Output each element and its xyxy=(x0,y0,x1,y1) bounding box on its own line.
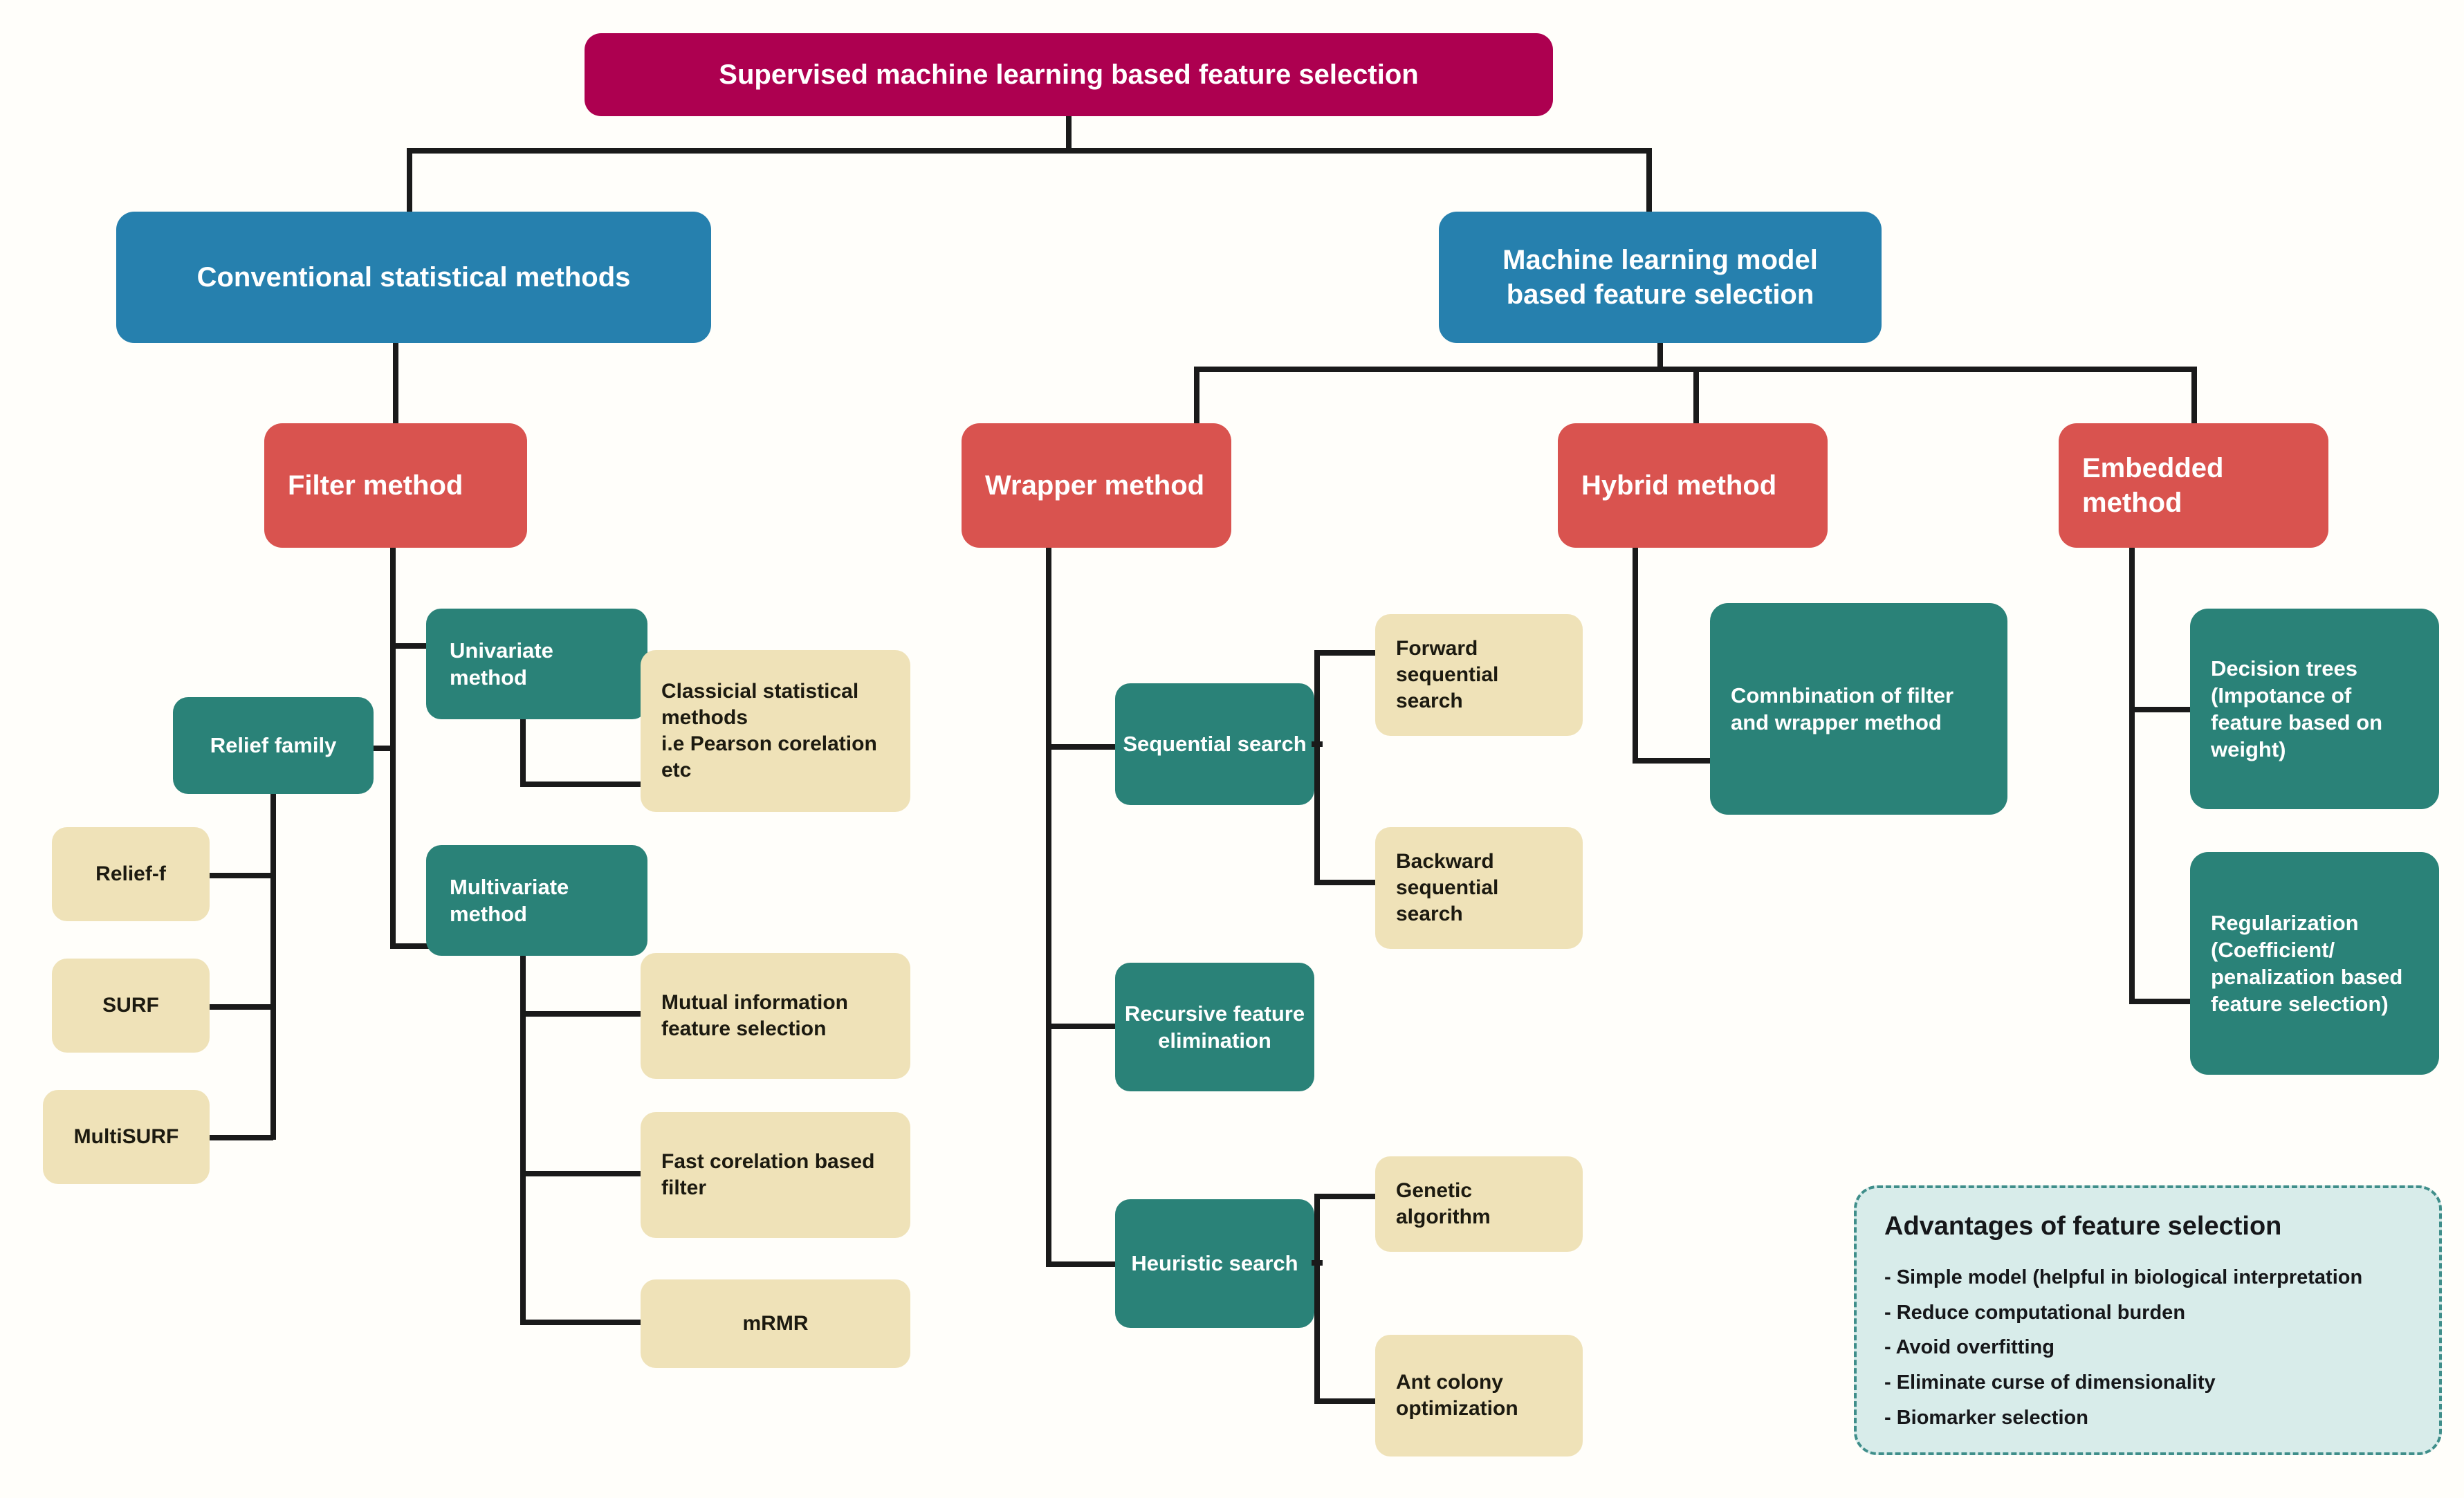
connector-sequential-to-forward xyxy=(1314,650,1381,656)
connector-to-embedded xyxy=(2191,367,2197,427)
node-univariate-label: Univariate method xyxy=(450,637,624,691)
legend-item: - Reduce computational burden xyxy=(1884,1300,2411,1326)
connector-heuristic-stem xyxy=(1312,1260,1323,1266)
connector-multivariate-to-mutual-info xyxy=(520,1011,646,1017)
node-ant-colony-optimization[interactable]: Ant colony optimization xyxy=(1375,1335,1583,1457)
node-conventional-statistical-methods[interactable]: Conventional statistical methods xyxy=(116,212,711,343)
node-wrapper-method-label: Wrapper method xyxy=(985,468,1208,503)
connector-relief-to-multisurf xyxy=(210,1135,273,1140)
node-relief-family[interactable]: Relief family xyxy=(173,697,374,794)
node-surf[interactable]: SURF xyxy=(52,959,210,1053)
legend-title: Advantages of feature selection xyxy=(1884,1212,2411,1241)
node-recursive-feature-elimination[interactable]: Recursive feature elimination xyxy=(1115,963,1314,1091)
node-fast-correlation-based-filter[interactable]: Fast corelation based filter xyxy=(641,1112,910,1238)
node-conventional-label: Conventional statistical methods xyxy=(140,260,688,295)
connector-heuristic-to-ant-colony xyxy=(1314,1398,1381,1404)
node-genetic-algorithm-label: Genetic algorithm xyxy=(1396,1178,1562,1230)
connector-multivariate-to-fast-correlation xyxy=(520,1171,646,1176)
legend-item: - Simple model (helpful in biological in… xyxy=(1884,1265,2411,1291)
connector-wrapper-to-rfe xyxy=(1046,1024,1122,1029)
node-classical-statistical-methods[interactable]: Classicial statistical methods i.e Pears… xyxy=(641,650,910,812)
node-relief-family-label: Relief family xyxy=(173,732,374,759)
node-hybrid-method[interactable]: Hybrid method xyxy=(1558,423,1828,548)
connector-sequential-to-backward xyxy=(1314,880,1381,885)
node-genetic-algorithm[interactable]: Genetic algorithm xyxy=(1375,1156,1583,1252)
connector-conventional-to-filter xyxy=(393,343,398,427)
node-embedded-method-label: Embedded method xyxy=(2082,451,2305,521)
connector-sequential-spine xyxy=(1314,650,1320,885)
connector-sequential-stem xyxy=(1312,741,1323,747)
node-sequential-search[interactable]: Sequential search xyxy=(1115,683,1314,805)
connector-relief-to-surf xyxy=(210,1004,273,1010)
root-node-label: Supervised machine learning based featur… xyxy=(585,57,1553,92)
connector-heuristic-spine xyxy=(1314,1194,1320,1404)
node-heuristic-search-label: Heuristic search xyxy=(1115,1250,1314,1277)
legend-item: - Biomarker selection xyxy=(1884,1405,2411,1432)
node-multisurf[interactable]: MultiSURF xyxy=(43,1090,210,1184)
node-embedded-method[interactable]: Embedded method xyxy=(2059,423,2328,548)
connector-to-hybrid xyxy=(1693,367,1699,427)
connector-wrapper-to-heuristic xyxy=(1046,1261,1122,1267)
connector-to-wrapper xyxy=(1194,367,1199,427)
connector-embedded-spine xyxy=(2129,548,2135,1004)
node-mrmr[interactable]: mRMR xyxy=(641,1279,910,1368)
node-filter-method[interactable]: Filter method xyxy=(264,423,527,548)
connector-relief-spine xyxy=(270,794,276,1140)
diagram-canvas: Supervised machine learning based featur… xyxy=(0,0,2464,1498)
node-backward-sequential-label: Backward sequential search xyxy=(1396,849,1562,927)
node-forward-sequential-label: Forward sequential search xyxy=(1396,636,1562,714)
node-backward-sequential-search[interactable]: Backward sequential search xyxy=(1375,827,1583,949)
node-univariate-method[interactable]: Univariate method xyxy=(426,609,647,719)
connector-univariate-stem xyxy=(520,719,526,787)
connector-relief-to-relieff xyxy=(210,873,273,878)
connector-to-ml-based xyxy=(1646,148,1652,212)
node-classical-statistical-label: Classicial statistical methods i.e Pears… xyxy=(661,678,890,783)
node-ml-based-label: Machine learning model based feature sel… xyxy=(1462,243,1858,313)
node-mrmr-label: mRMR xyxy=(641,1311,910,1337)
legend-list: - Simple model (helpful in biological in… xyxy=(1884,1265,2411,1431)
node-fast-correlation-label: Fast corelation based filter xyxy=(661,1149,890,1201)
node-decision-trees[interactable]: Decision trees (Impotance of feature bas… xyxy=(2190,609,2439,809)
node-decision-trees-label: Decision trees (Impotance of feature bas… xyxy=(2211,655,2418,763)
node-regularization[interactable]: Regularization (Coefficient/ penalizatio… xyxy=(2190,852,2439,1075)
node-multisurf-label: MultiSURF xyxy=(43,1124,210,1150)
connector-root-bus xyxy=(407,148,1652,154)
node-combination-filter-wrapper[interactable]: Comnbination of filter and wrapper metho… xyxy=(1710,603,2007,815)
connector-to-conventional xyxy=(407,148,412,212)
node-hybrid-method-label: Hybrid method xyxy=(1581,468,1804,503)
node-relief-f-label: Relief-f xyxy=(52,861,210,887)
root-node-supervised-feature-selection[interactable]: Supervised machine learning based featur… xyxy=(585,33,1553,116)
node-mutual-information-feature-selection[interactable]: Mutual information feature selection xyxy=(641,953,910,1079)
node-combination-label: Comnbination of filter and wrapper metho… xyxy=(1731,682,1987,736)
node-ant-colony-label: Ant colony optimization xyxy=(1396,1369,1562,1422)
connector-heuristic-to-genetic xyxy=(1314,1194,1381,1199)
connector-root-stem xyxy=(1066,116,1072,152)
node-regularization-label: Regularization (Coefficient/ penalizatio… xyxy=(2211,909,2418,1017)
connector-wrapper-to-sequential xyxy=(1046,744,1122,750)
legend-item: - Avoid overfitting xyxy=(1884,1335,2411,1361)
connector-multivariate-to-mrmr xyxy=(520,1320,646,1325)
node-rfe-label: Recursive feature elimination xyxy=(1115,1000,1314,1054)
legend-advantages-of-feature-selection: Advantages of feature selection - Simple… xyxy=(1854,1185,2442,1455)
connector-hybrid-spine xyxy=(1633,548,1638,764)
node-ml-model-based-feature-selection[interactable]: Machine learning model based feature sel… xyxy=(1439,212,1882,343)
node-forward-sequential-search[interactable]: Forward sequential search xyxy=(1375,614,1583,736)
node-multivariate-label: Multivariate method xyxy=(450,873,624,927)
connector-hybrid-to-child xyxy=(1633,758,1716,764)
node-heuristic-search[interactable]: Heuristic search xyxy=(1115,1199,1314,1328)
connector-univariate-to-classical xyxy=(520,782,646,787)
connector-wrapper-spine xyxy=(1046,548,1051,1267)
node-multivariate-method[interactable]: Multivariate method xyxy=(426,845,647,956)
node-mutual-information-label: Mutual information feature selection xyxy=(661,990,890,1042)
node-sequential-search-label: Sequential search xyxy=(1115,730,1314,757)
node-filter-method-label: Filter method xyxy=(288,468,504,503)
node-surf-label: SURF xyxy=(52,992,210,1019)
node-relief-f[interactable]: Relief-f xyxy=(52,827,210,921)
node-wrapper-method[interactable]: Wrapper method xyxy=(962,423,1231,548)
legend-item: - Eliminate curse of dimensionality xyxy=(1884,1370,2411,1396)
